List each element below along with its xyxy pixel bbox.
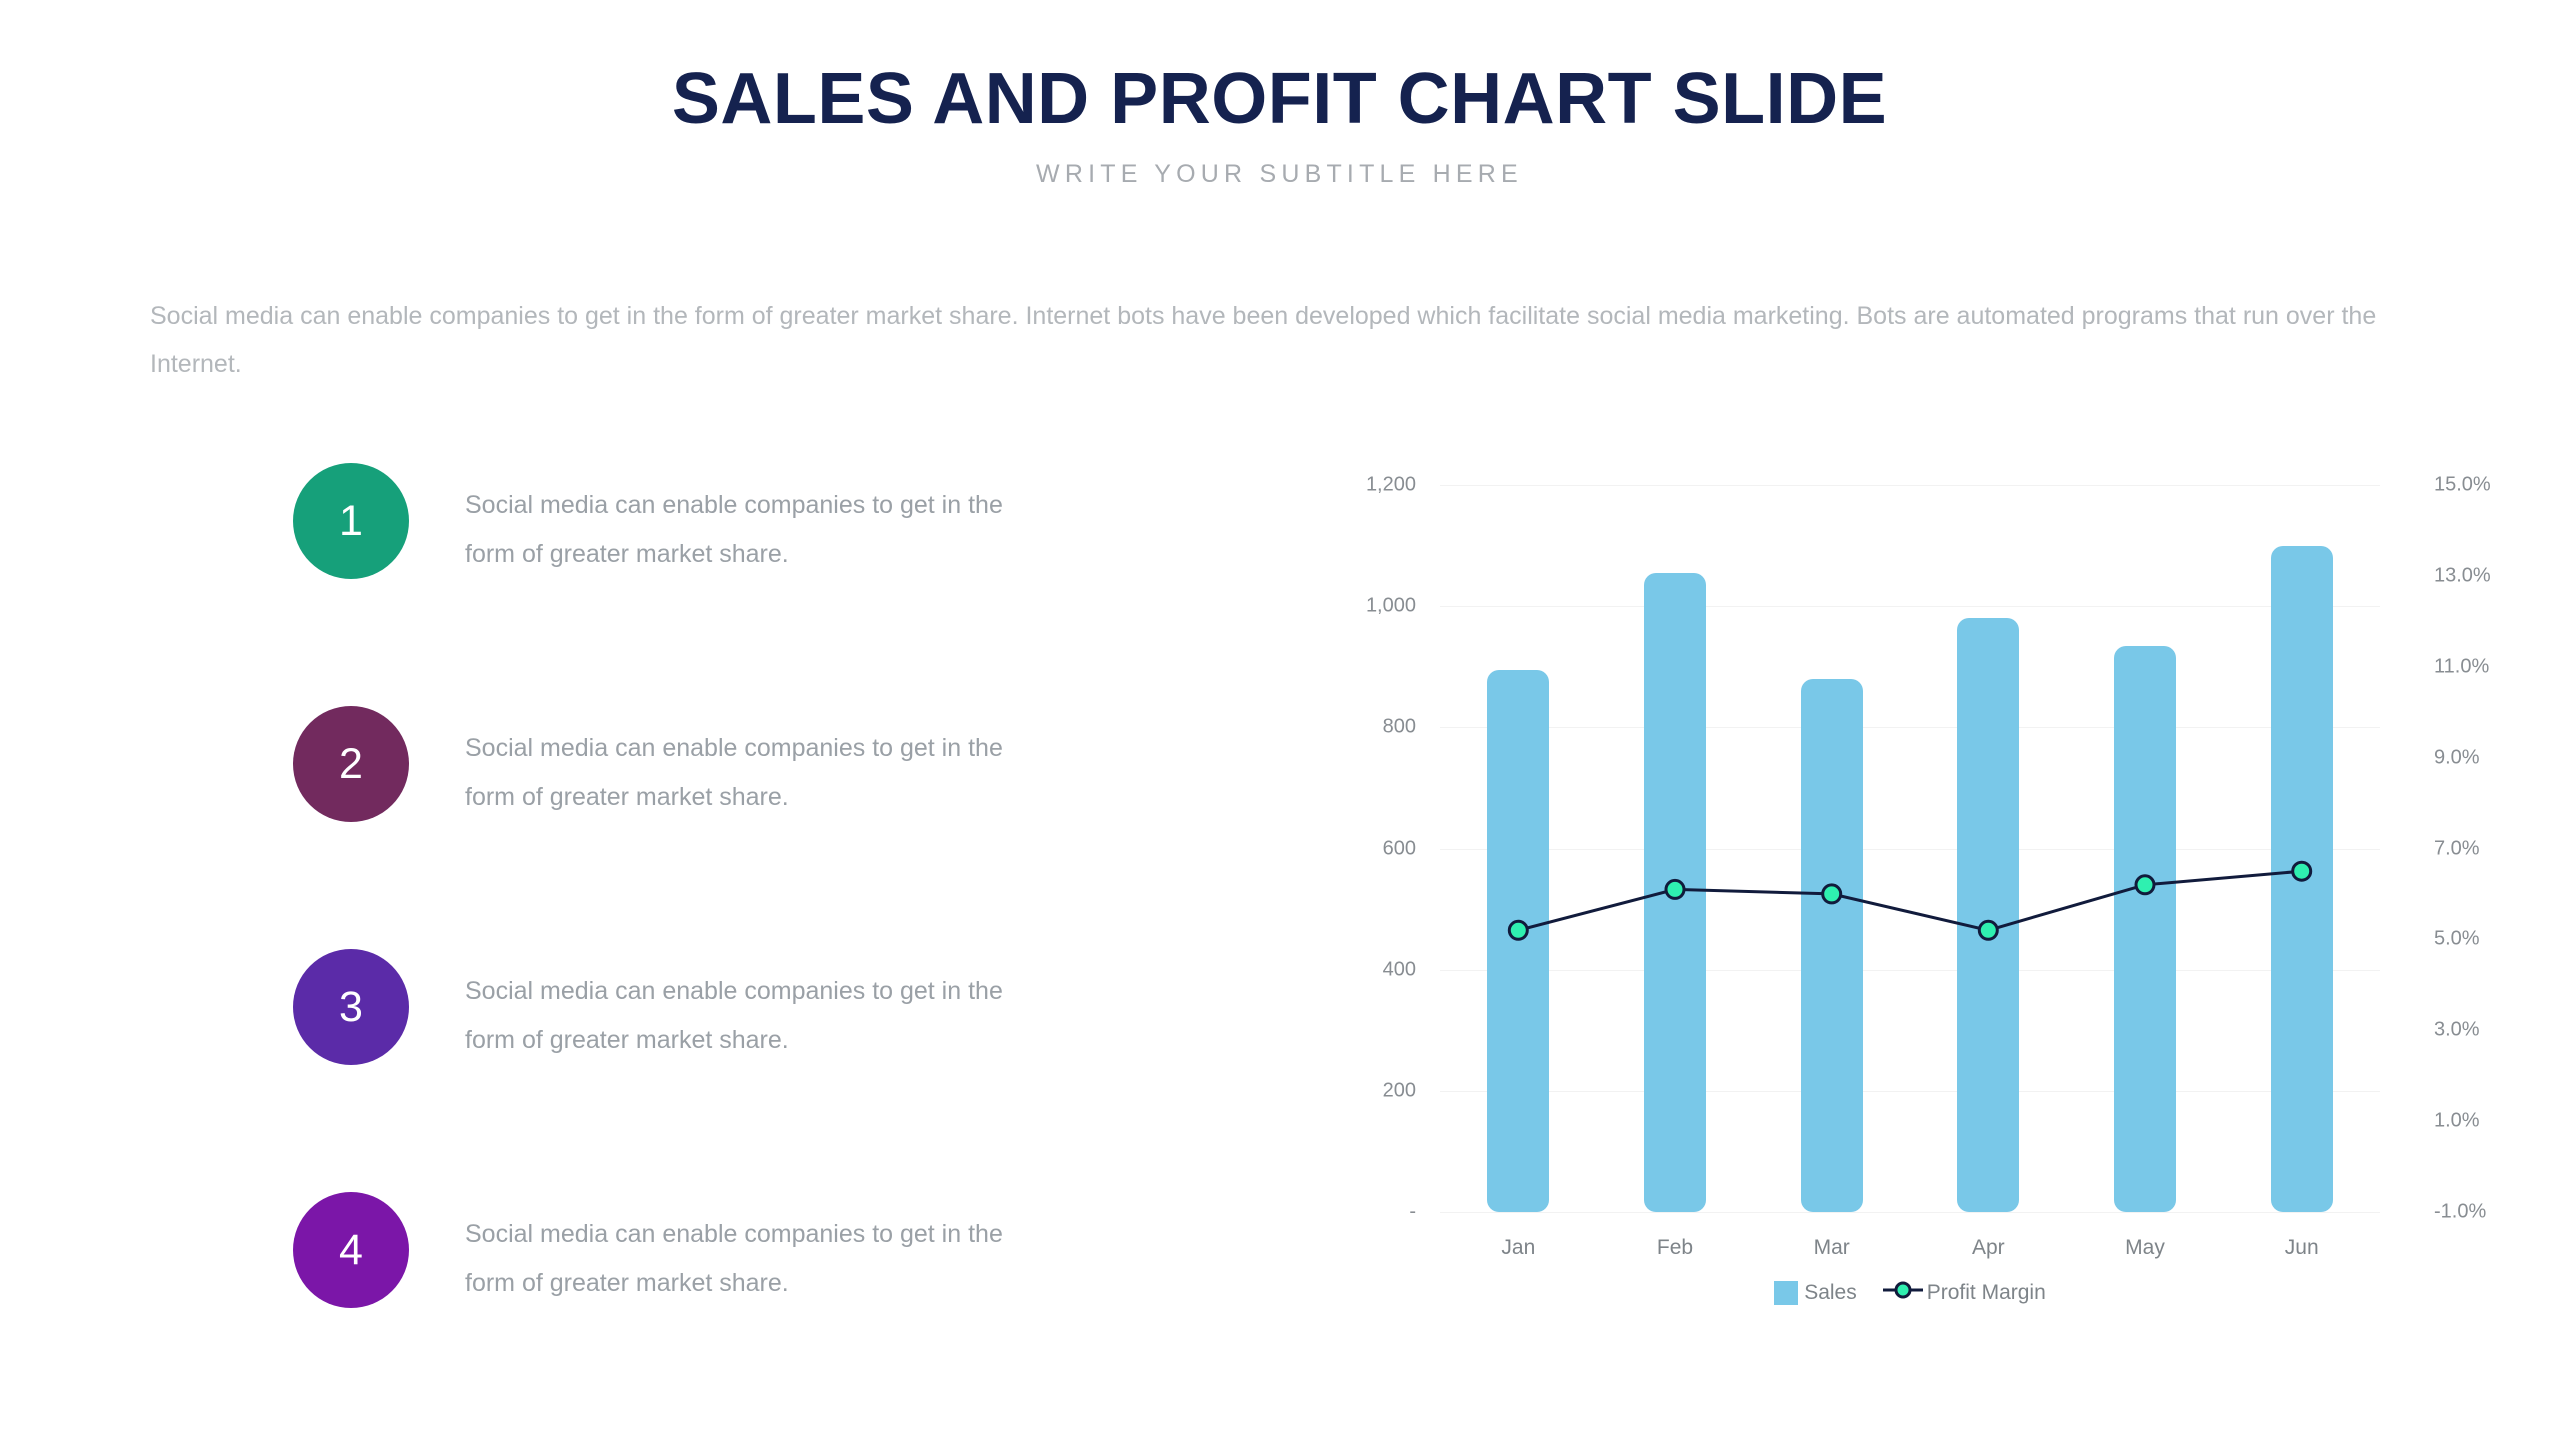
left-axis-tick: 200 (1383, 1079, 1416, 1102)
chart-legend: SalesProfit Margin (1440, 1280, 2380, 1305)
left-axis-tick: - (1409, 1201, 1416, 1224)
left-axis-tick: 400 (1383, 958, 1416, 981)
bar-may[interactable] (2114, 646, 2176, 1212)
bar-mar[interactable] (1801, 679, 1863, 1212)
gridline (1440, 1212, 2380, 1213)
bullet-list: 1 Social media can enable companies to g… (293, 463, 1013, 1435)
right-axis-tick: 5.0% (2434, 928, 2480, 951)
bar-jan[interactable] (1487, 670, 1549, 1212)
intro-paragraph: Social media can enable companies to get… (150, 292, 2425, 388)
page-title: SALES AND PROFIT CHART SLIDE (0, 62, 2559, 138)
list-item[interactable]: 1 Social media can enable companies to g… (293, 463, 1013, 706)
right-axis-tick: 7.0% (2434, 837, 2480, 860)
right-axis-tick: 13.0% (2434, 564, 2491, 587)
right-axis-tick: 1.0% (2434, 1110, 2480, 1133)
x-axis-label: Jun (2223, 1236, 2380, 1260)
bar-slot (1910, 485, 2067, 1212)
bar-feb[interactable] (1644, 573, 1706, 1212)
right-axis-tick: -1.0% (2434, 1201, 2486, 1224)
bullet-text: Social media can enable companies to get… (465, 967, 1013, 1065)
x-axis-label: Jan (1440, 1236, 1597, 1260)
x-axis-label: May (2067, 1236, 2224, 1260)
right-axis-tick: 15.0% (2434, 474, 2491, 497)
bullet-badge-3: 3 (293, 949, 409, 1065)
bar-slot (1597, 485, 1754, 1212)
x-axis-label: Feb (1597, 1236, 1754, 1260)
list-item[interactable]: 2 Social media can enable companies to g… (293, 706, 1013, 949)
bar-slot (1440, 485, 1597, 1212)
bullet-number: 1 (339, 500, 363, 543)
left-axis-tick: 800 (1383, 716, 1416, 739)
bullet-badge-1: 1 (293, 463, 409, 579)
bar-slot (2067, 485, 2224, 1212)
slide-root: SALES AND PROFIT CHART SLIDE WRITE YOUR … (0, 0, 2559, 1440)
legend-swatch-icon (1774, 1281, 1798, 1305)
left-axis-tick: 1,200 (1366, 474, 1416, 497)
legend-label: Profit Margin (1927, 1281, 2046, 1305)
legend-item-profit-margin[interactable]: Profit Margin (1883, 1280, 2046, 1305)
chart-plot-area: 1,2001,000800600400200- 15.0%13.0%11.0%9… (1440, 485, 2380, 1212)
right-axis-tick: 3.0% (2434, 1019, 2480, 1042)
slide-header: SALES AND PROFIT CHART SLIDE WRITE YOUR … (0, 62, 2559, 189)
bullet-number: 4 (339, 1229, 363, 1272)
legend-item-sales[interactable]: Sales (1774, 1281, 1857, 1305)
right-axis-tick: 9.0% (2434, 746, 2480, 769)
bullet-number: 2 (339, 743, 363, 786)
x-axis-label: Apr (1910, 1236, 2067, 1260)
bullet-text: Social media can enable companies to get… (465, 1210, 1013, 1308)
chart-x-axis: JanFebMarAprMayJun (1440, 1236, 2380, 1260)
list-item[interactable]: 4 Social media can enable companies to g… (293, 1192, 1013, 1435)
bullet-number: 3 (339, 986, 363, 1029)
bullet-text: Social media can enable companies to get… (465, 724, 1013, 822)
bar-jun[interactable] (2271, 546, 2333, 1212)
left-axis-tick: 1,000 (1366, 595, 1416, 618)
bullet-text: Social media can enable companies to get… (465, 481, 1013, 579)
legend-line-marker-icon (1883, 1280, 1923, 1305)
right-axis-tick: 11.0% (2434, 655, 2489, 678)
bar-slot (1753, 485, 1910, 1212)
list-item[interactable]: 3 Social media can enable companies to g… (293, 949, 1013, 1192)
x-axis-label: Mar (1753, 1236, 1910, 1260)
bar-slot (2223, 485, 2380, 1212)
bar-apr[interactable] (1957, 618, 2019, 1212)
sales-profit-chart: 1,2001,000800600400200- 15.0%13.0%11.0%9… (1330, 460, 2500, 1340)
legend-label: Sales (1804, 1281, 1857, 1305)
chart-bar-series (1440, 485, 2380, 1212)
page-subtitle: WRITE YOUR SUBTITLE HERE (0, 160, 2559, 189)
bullet-badge-2: 2 (293, 706, 409, 822)
left-axis-tick: 600 (1383, 837, 1416, 860)
bullet-badge-4: 4 (293, 1192, 409, 1308)
